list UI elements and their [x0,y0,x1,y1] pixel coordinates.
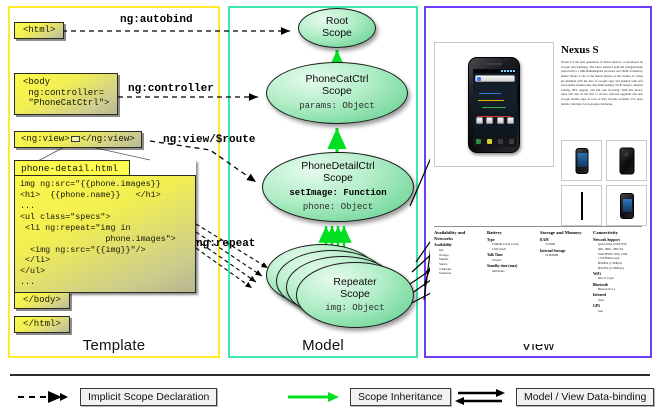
spec-value-gps-0: true [593,309,642,314]
scope-phonedetailctrl-title-2: Scope [323,173,353,185]
detail-file-name: phone-detail.html [14,160,130,175]
legend-item-implicit-scope: Implicit Scope Declaration [16,388,217,406]
spec-column-battery: Battery Type Lithium Ion (Li-Ion) 1500 m… [487,230,536,314]
scope-phonedetailctrl-prop-setimage: setImage: Function [289,188,386,198]
spec-value-storage-internal-0: 16384MB [540,253,589,258]
scope-phonedetailctrl: PhoneDetailCtrl Scope setImage: Function… [262,152,414,222]
phone-hero-image [468,57,520,153]
legend-label-data-binding: Model / View Data-binding [516,388,654,406]
ngview-slot-icon [71,136,80,142]
dashed-arrow-icon [16,388,72,406]
scope-root: Root Scope [298,8,376,48]
view-phone-title: Nexus S [561,44,599,56]
label-ng-controller: ng:controller [128,83,214,95]
scope-repeater-title-2: Scope [340,289,370,301]
code-body-close: </body> [14,292,70,309]
label-ng-autobind: ng:autobind [120,14,193,26]
scope-repeater-prop-img: img: Object [325,303,384,313]
code-ngview: <ng:view></ng:view> [14,131,142,148]
legend-item-data-binding: Model / View Data-binding [452,388,654,406]
phone-screen [473,69,517,137]
scope-phonedetailctrl-prop-phone: phone: Object [303,202,373,213]
phone-widget-2 [478,100,504,102]
view-thumbnail-grid [561,140,647,226]
thumbnail-phone-front[interactable] [561,140,602,181]
spec-value-battery-standby-0: 428 hours [487,269,536,274]
diagram-canvas: Template Model View [0,0,660,420]
spec-heading-battery: Battery [487,230,536,236]
scope-root-title-2: Scope [322,28,352,40]
detail-file-code: img ng:src="{{phone.images}} <h1> {{phon… [14,175,196,293]
label-ng-view-route: ng:view/$route [163,134,255,146]
label-ng-repeat: ng:repeat [196,238,255,250]
spec-heading-connectivity: Connectivity [593,230,642,236]
phone-navbar [473,137,517,147]
spec-value-network-5: HSUPA (5.76Mbps) [593,266,642,271]
legend-label-scope-inheritance: Scope Inheritance [350,388,451,406]
thumbnail-phone-angled[interactable] [606,185,647,226]
ngview-open-tag: <ng:view> [21,134,70,144]
scope-repeater: Repeater Scope img: Object [296,262,414,328]
spec-value-infrared-0: false [593,298,642,303]
legend-divider [10,374,650,376]
view-rendered-page: Nexus S Nexus S is the next generation o… [430,14,646,344]
phone-searchbar [475,75,515,82]
phone-widget-3 [482,107,506,109]
phone-widget-1 [479,93,501,95]
thumbnail-phone-edge[interactable] [561,185,602,226]
phone-statusbar [473,69,517,73]
code-html-close: </html> [14,316,70,333]
view-phone-description: Nexus S is the next generation of Nexus … [561,60,643,106]
thumbnail-phone-back[interactable] [606,140,647,181]
spec-column-availability: Availability and Networks Availability M… [434,230,483,314]
scope-repeater-stack: Repeater Scope img: Object [266,240,414,332]
spec-column-storage: Storage and Memory RAM 512MB Internal St… [540,230,589,314]
legend-label-implicit-scope: Implicit Scope Declaration [80,388,217,406]
spec-value-wifi-0: 802.11 b/g/n [593,276,642,281]
legend: Implicit Scope Declaration Scope Inherit… [0,374,660,420]
spec-heading-storage: Storage and Memory [540,230,589,236]
scope-phonecatctrl: PhoneCatCtrl Scope params: Object [266,62,408,124]
spec-column-connectivity: Connectivity Network Support Quad-band G… [593,230,642,314]
view-specs-table: Availability and Networks Availability M… [434,226,642,314]
scope-phonecatctrl-prop-params: params: Object [299,101,375,112]
double-arrow-icon [452,388,508,406]
code-body-open: <body ng:controller= "PhoneCatCtrl"> [14,73,118,115]
column-label-model: Model [230,337,416,354]
spec-value-storage-ram-0: 512MB [540,242,589,247]
ngview-close-tag: </ng:view> [81,134,135,144]
phone-app-row [476,117,514,124]
scope-repeater-title-1: Repeater [333,277,376,289]
code-html-open: <html> [14,22,64,39]
scope-phonecatctrl-title-2: Scope [322,86,352,98]
column-label-template: Template [10,337,218,354]
phone-earpiece [486,63,502,65]
template-detail-note: phone-detail.html img ng:src="{{phone.im… [14,160,196,293]
spec-value-battery-talktime-0: 6 hours [487,258,536,263]
spec-heading-availability: Availability and Networks [434,230,483,241]
legend-item-scope-inheritance: Scope Inheritance [286,388,451,406]
spec-value-battery-type-1: 1500 mAh [487,247,536,252]
spec-value-availability-5: Vodafone [434,271,483,276]
hero-image-frame [434,42,554,167]
green-arrow-icon [286,388,342,406]
spec-value-bluetooth-0: Bluetooth 2.1 [593,287,642,292]
